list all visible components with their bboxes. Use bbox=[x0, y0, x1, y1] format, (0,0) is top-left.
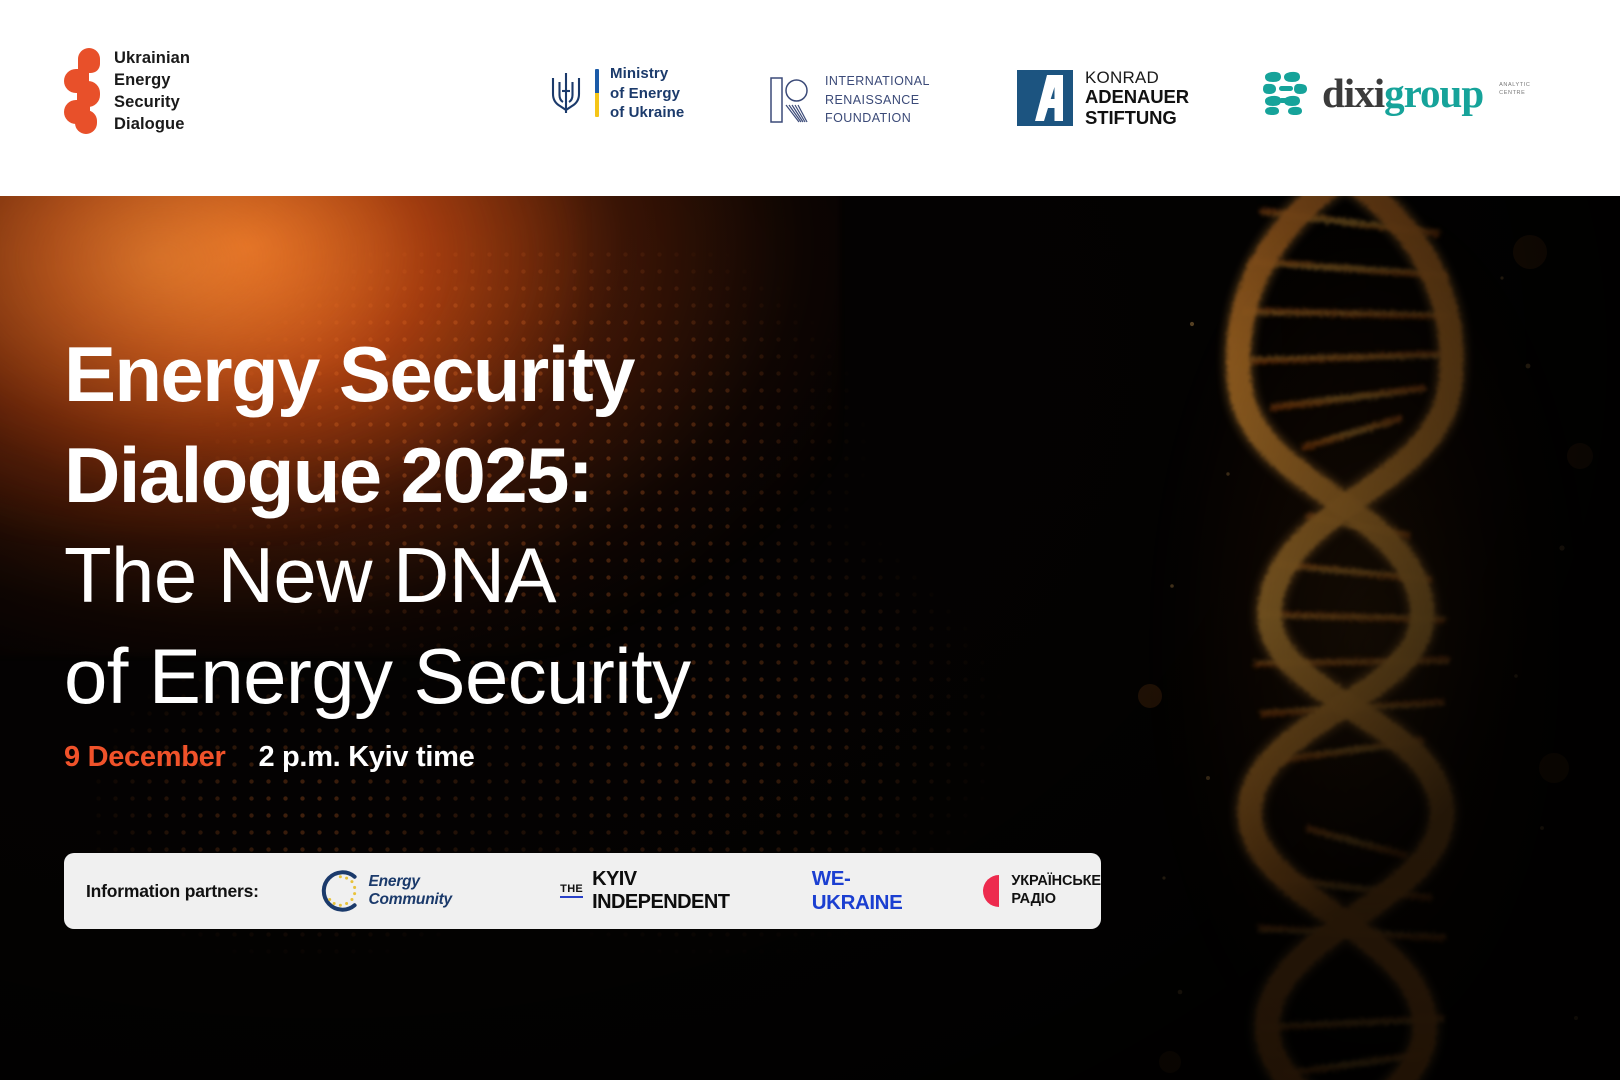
title-bold-line-2: Dialogue 2025: bbox=[64, 425, 691, 526]
title-light-line-2: of Energy Security bbox=[64, 626, 691, 727]
logo-ministry-of-energy-of-ukraine[interactable]: Ministry of Energy of Ukraine bbox=[548, 64, 684, 123]
dixi-word-a: dixi bbox=[1322, 70, 1384, 116]
irf-line-2: RENAISSANCE bbox=[825, 91, 930, 110]
irf-line-3: FOUNDATION bbox=[825, 109, 930, 128]
ukrainske-radio-line-1: УКРАЇНСЬКЕ bbox=[1011, 873, 1101, 889]
logo-dixi-group[interactable]: dixigroup ANALYTIC CENTRE bbox=[1262, 70, 1530, 116]
partner-logo-we-ukraine[interactable]: WE-UKRAINE bbox=[812, 867, 928, 915]
kyiv-independent-prefix: THE bbox=[560, 884, 583, 898]
partner-logo-ukrainske-radio[interactable]: УКРАЇНСЬКЕ РАДІО bbox=[977, 873, 1101, 909]
event-datetime: 9 December 2 p.m. Kyiv time bbox=[64, 741, 474, 774]
dna-ambient-glow bbox=[1170, 216, 1570, 1076]
kas-line-1: KONRAD bbox=[1085, 68, 1189, 87]
we-ukraine-label: WE-UKRAINE bbox=[812, 867, 928, 915]
logo-konrad-adenauer-stiftung[interactable]: KONRAD ADENAUER STIFTUNG bbox=[1017, 68, 1189, 128]
ministry-flag-rule bbox=[595, 69, 599, 117]
hero-section: Energy Security Dialogue 2025: The New D… bbox=[0, 196, 1620, 1080]
energy-community-icon bbox=[319, 867, 362, 915]
partner-logo-kyiv-independent[interactable]: THE KYIV INDEPENDENT bbox=[560, 868, 756, 914]
ukrainske-radio-icon bbox=[977, 873, 1001, 909]
uesd-line-1: Ukrainian bbox=[114, 48, 190, 70]
dixi-tagline-line-2: CENTRE bbox=[1499, 90, 1530, 98]
uesd-line-3: Security bbox=[114, 92, 190, 114]
uesd-mark-icon bbox=[64, 48, 100, 134]
title-bold-line-1: Energy Security bbox=[64, 324, 691, 425]
ministry-line-1: Ministry bbox=[610, 64, 684, 84]
information-partners-bar: Information partners: Energy Community bbox=[64, 853, 1101, 929]
event-title: Energy Security Dialogue 2025: The New D… bbox=[64, 324, 691, 726]
information-partners-label: Information partners: bbox=[86, 881, 259, 902]
dixi-tagline: ANALYTIC CENTRE bbox=[1499, 82, 1530, 98]
irf-mark-icon bbox=[770, 77, 812, 123]
dixi-wordmark: dixigroup bbox=[1322, 73, 1483, 114]
kas-mark-icon bbox=[1017, 70, 1073, 126]
kyiv-independent-label: KYIV INDEPENDENT bbox=[592, 868, 756, 914]
partner-logo-energy-community[interactable]: Energy Community bbox=[319, 867, 492, 915]
dixi-word-b: group bbox=[1384, 70, 1483, 116]
logo-international-renaissance-foundation[interactable]: INTERNATIONAL RENAISSANCE FOUNDATION bbox=[770, 72, 930, 128]
irf-wordmark: INTERNATIONAL RENAISSANCE FOUNDATION bbox=[825, 72, 930, 128]
ukrainske-radio-line-2: РАДІО bbox=[1011, 891, 1056, 907]
uesd-line-2: Energy bbox=[114, 70, 190, 92]
event-start-time: 2 p.m. Kyiv time bbox=[258, 741, 474, 774]
kas-line-2: ADENAUER bbox=[1085, 87, 1189, 108]
dixi-tagline-line-1: ANALYTIC bbox=[1499, 82, 1530, 90]
kas-wordmark: KONRAD ADENAUER STIFTUNG bbox=[1085, 68, 1189, 128]
ukrainske-radio-label: УКРАЇНСЬКЕ РАДІО bbox=[1011, 873, 1101, 908]
title-light-line-1: The New DNA bbox=[64, 525, 691, 626]
uesd-wordmark: Ukrainian Energy Security Dialogue bbox=[114, 48, 190, 136]
tryzub-icon bbox=[548, 69, 584, 117]
ministry-wordmark: Ministry of Energy of Ukraine bbox=[610, 64, 684, 123]
event-date: 9 December bbox=[64, 741, 225, 774]
ministry-line-3: of Ukraine bbox=[610, 103, 684, 123]
irf-line-1: INTERNATIONAL bbox=[825, 72, 930, 91]
uesd-line-4: Dialogue bbox=[114, 114, 190, 136]
dixi-mark-icon bbox=[1262, 70, 1310, 116]
dna-helix-graphic bbox=[1110, 196, 1620, 1080]
energy-community-label: Energy Community bbox=[369, 873, 493, 909]
event-poster: Ukrainian Energy Security Dialogue bbox=[0, 0, 1620, 1080]
kas-line-3: STIFTUNG bbox=[1085, 108, 1189, 129]
sponsor-logo-bar: Ukrainian Energy Security Dialogue bbox=[0, 0, 1620, 196]
ministry-line-2: of Energy bbox=[610, 84, 684, 104]
logo-ukrainian-energy-security-dialogue[interactable]: Ukrainian Energy Security Dialogue bbox=[64, 48, 190, 136]
